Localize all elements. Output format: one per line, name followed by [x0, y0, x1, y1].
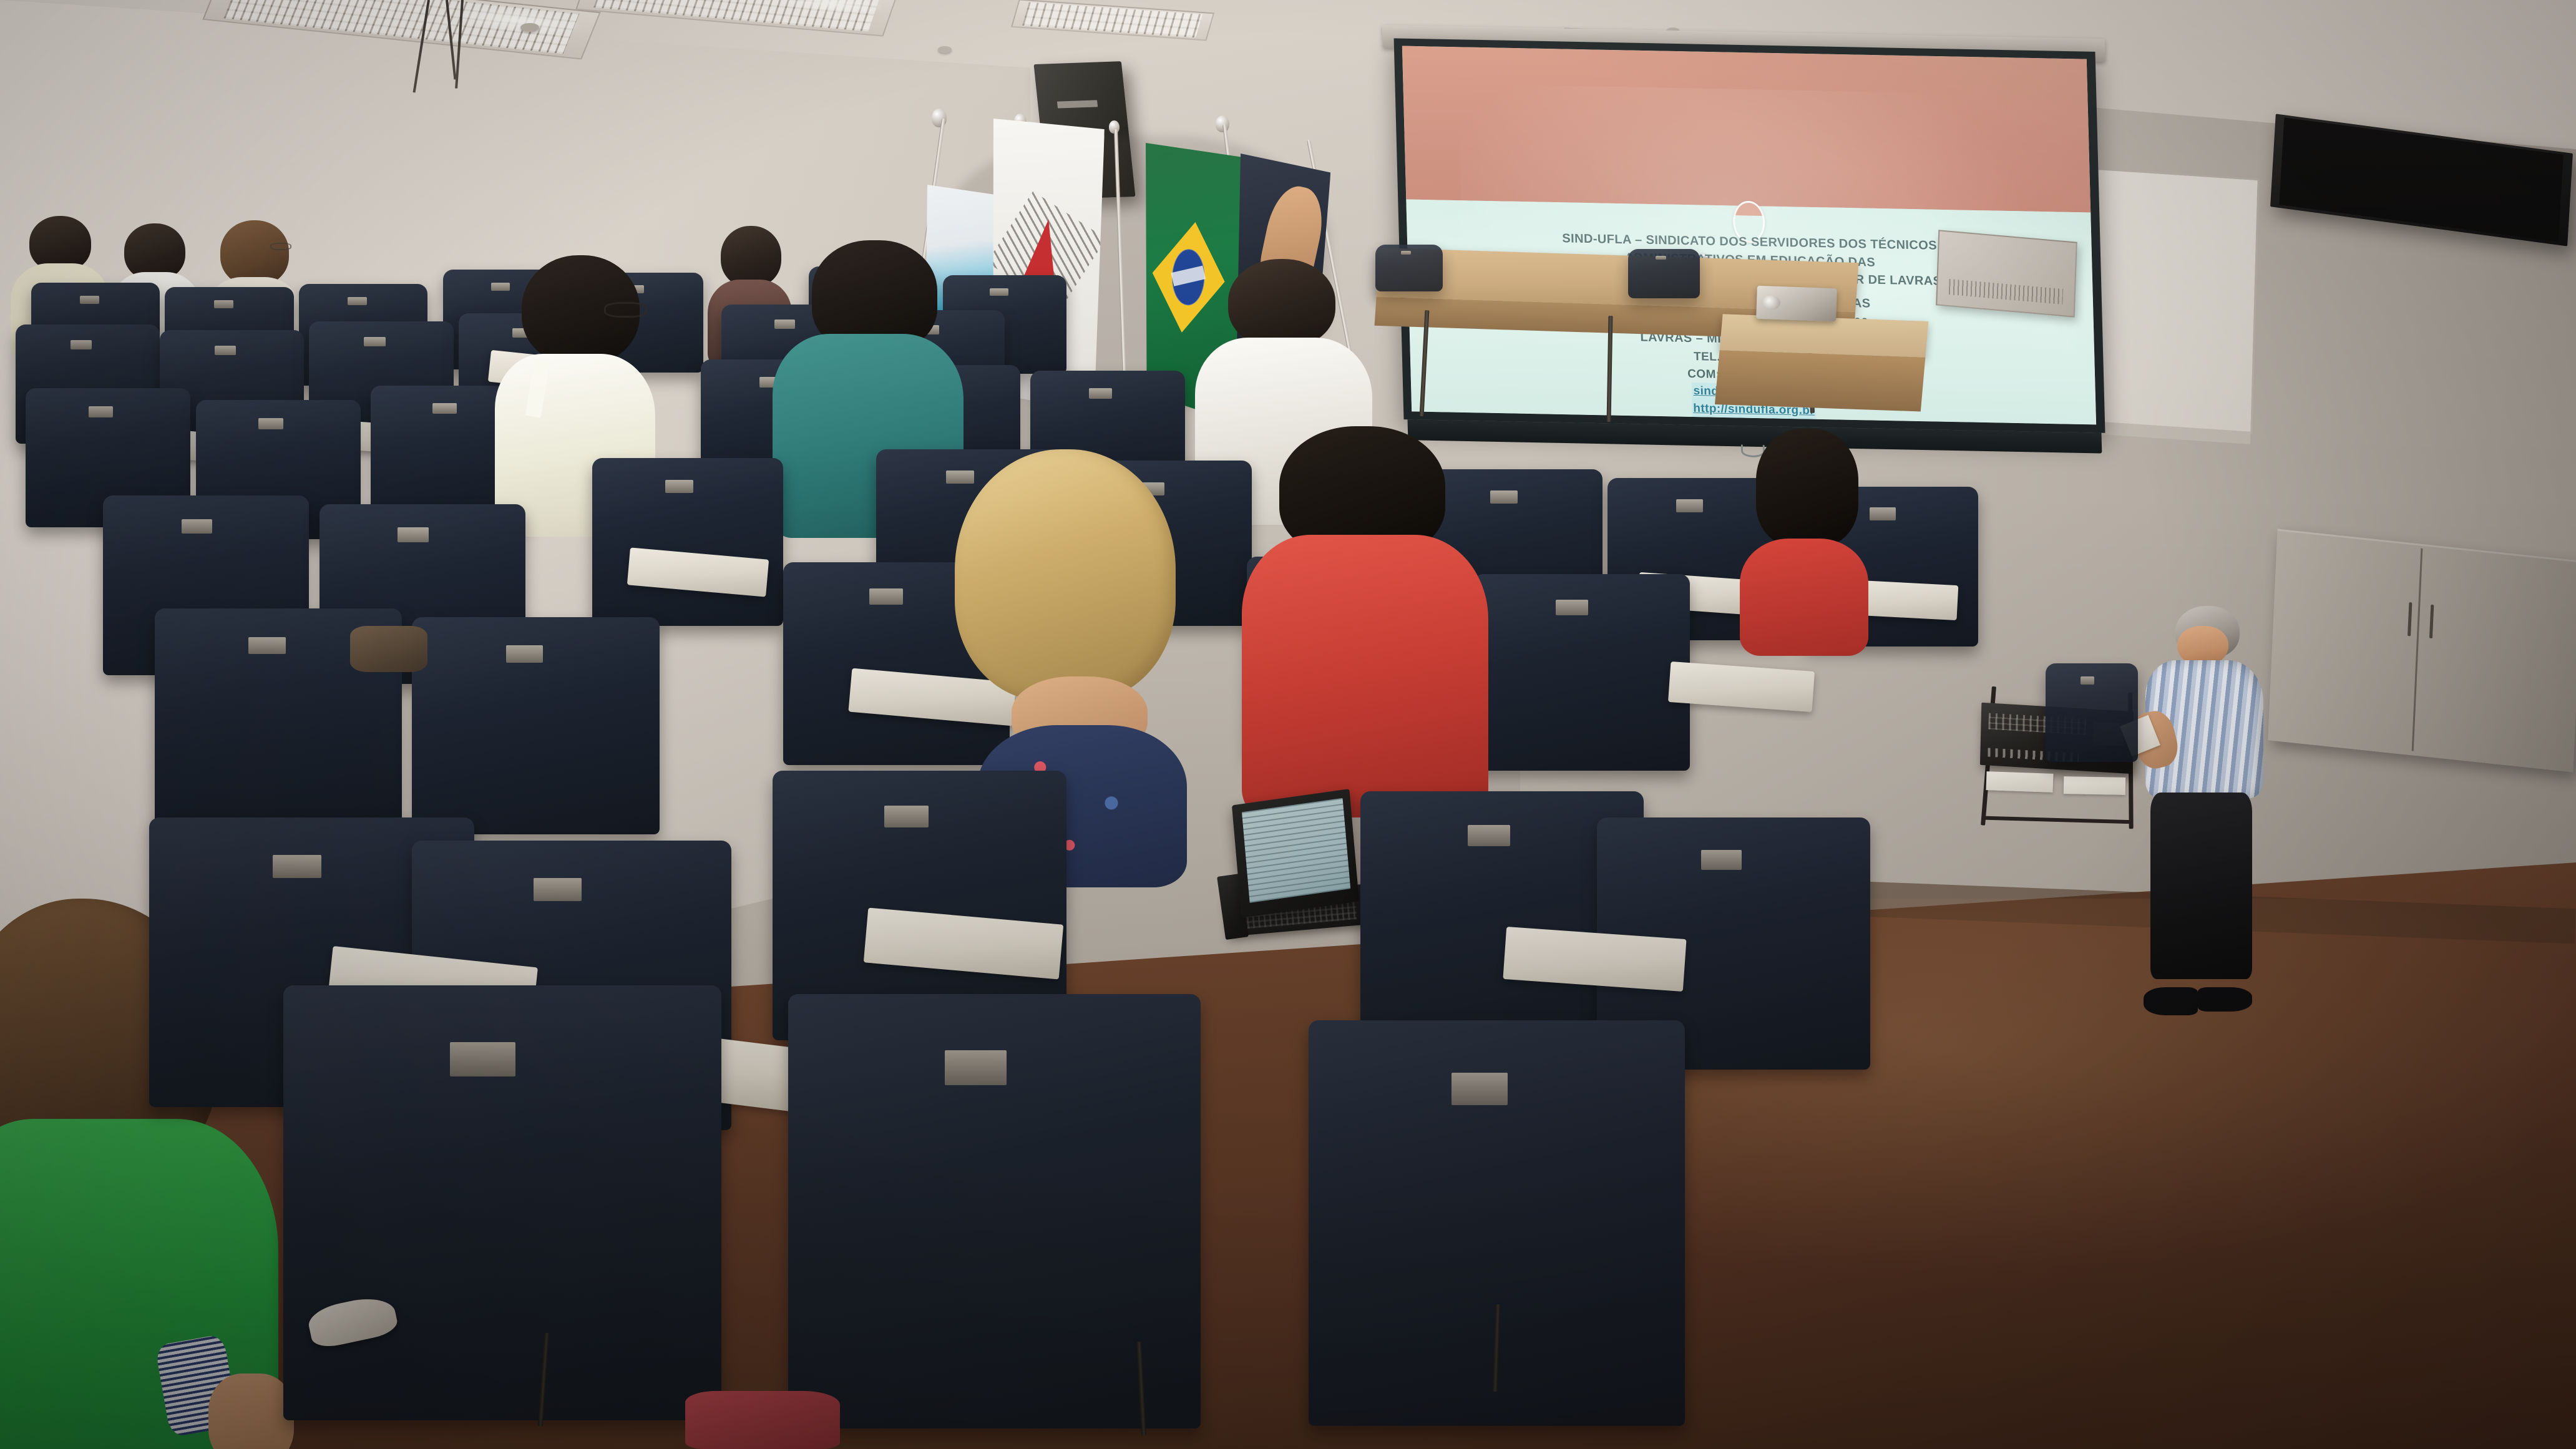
ceiling-projector-housing — [1936, 230, 2077, 318]
paper-on-rack — [1986, 771, 2053, 793]
bag — [685, 1391, 840, 1449]
chair[interactable] — [592, 458, 783, 626]
vent-grille-icon — [1949, 279, 2064, 305]
storage-cabinet[interactable] — [2268, 529, 2576, 773]
attendee-hair — [1756, 429, 1858, 547]
attendee-hair — [1228, 259, 1335, 348]
attendee-9 — [1242, 426, 1510, 789]
bag — [350, 626, 427, 672]
presenter-shoe — [2144, 987, 2198, 1016]
ceiling-fixture-disc — [520, 23, 539, 32]
attendee-hair — [955, 449, 1176, 701]
presenter-trousers — [2150, 793, 2253, 979]
auditorium-presentation-photo: Contato SIND-UFLA – SINDICATO DOS SERVID… — [0, 0, 2576, 1449]
chair[interactable] — [412, 617, 659, 834]
attendee-hair — [220, 220, 289, 286]
laptop-screen[interactable] — [1232, 789, 1359, 918]
projector-lens-icon — [1762, 295, 1782, 311]
attendee-eyeglasses-icon — [270, 243, 291, 250]
presenter-shoe — [2198, 987, 2252, 1012]
attendee-eyeglasses-icon — [604, 302, 647, 318]
paper-on-rack — [2063, 776, 2125, 795]
attendee-10 — [1736, 429, 1901, 632]
laptop-screen-content — [1242, 798, 1352, 903]
cabinet-handle[interactable] — [2429, 605, 2433, 639]
presenter — [2128, 606, 2288, 1012]
attendee-clothing — [1740, 539, 1868, 656]
table-edge — [1714, 350, 1925, 411]
chair-behind-table[interactable] — [1628, 249, 1700, 298]
rack-frame-bar — [1984, 816, 2131, 824]
data-projector — [1756, 286, 1837, 322]
attendee-hand — [208, 1373, 293, 1449]
attendee-clothing — [1242, 535, 1488, 817]
attendee-hair — [721, 226, 781, 287]
cabinet-handle[interactable] — [2408, 602, 2412, 637]
chair-near-presenter[interactable] — [2046, 663, 2139, 762]
cabinet-door-seam — [2411, 548, 2422, 751]
slide-title-band — [1402, 46, 2091, 213]
chair[interactable] — [283, 985, 721, 1420]
